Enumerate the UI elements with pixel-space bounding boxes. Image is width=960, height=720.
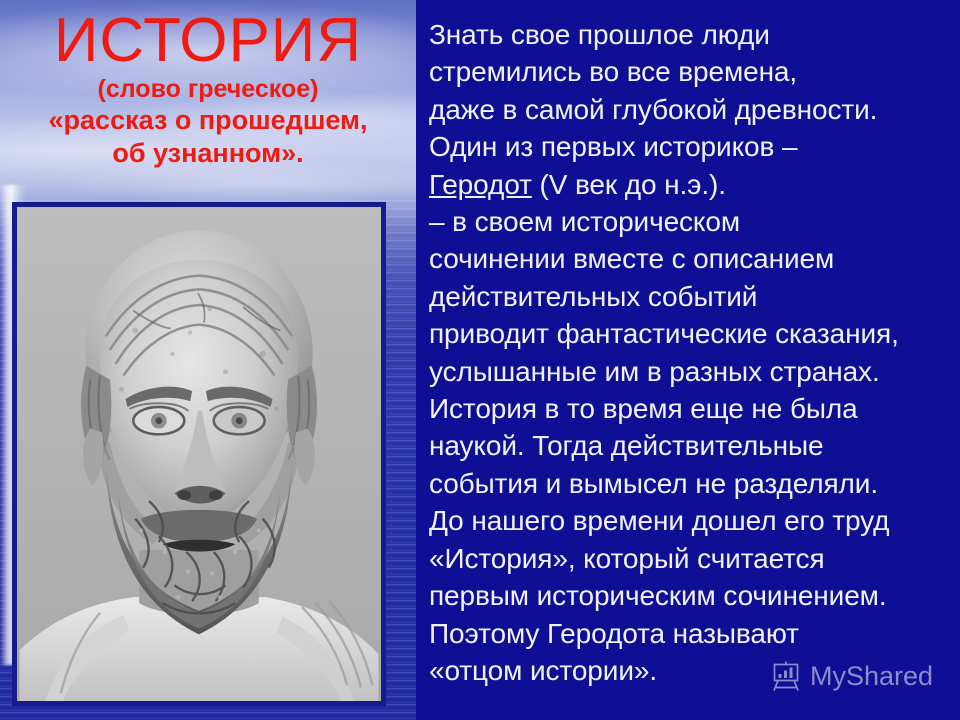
text-panel: Знать свое прошлое люди стремились во вс…	[416, 0, 960, 720]
myshared-watermark: MyShared	[769, 660, 933, 692]
subtitle-line-1: (слово греческое)	[0, 74, 416, 104]
body-line-7: сочинении вместе с описанием	[429, 240, 960, 277]
body-line-13: события и вымысел не разделяли.	[429, 465, 960, 502]
body-line-14: До нашего времени дошел его труд	[429, 502, 960, 539]
body-line-3: даже в самой глубокой древности.	[429, 91, 960, 128]
herodotus-bust-photo	[12, 202, 386, 706]
body-line-4: Один из первых историков –	[429, 128, 960, 165]
body-line-10: услышанные им в разных странах.	[429, 353, 960, 390]
slide-root: ИСТОРИЯ (слово греческое) «рассказ о про…	[0, 0, 960, 720]
body-line-17: Поэтому Геродота называют	[429, 615, 960, 652]
myshared-label: MyShared	[810, 661, 933, 691]
title-block: ИСТОРИЯ (слово греческое) «рассказ о про…	[0, 8, 416, 170]
body-line-9: приводит фантастические сказания,	[429, 315, 960, 352]
subtitle-line-2: «рассказ о прошедшем,	[0, 104, 416, 137]
body-line-11: История в то время еще не была	[429, 390, 960, 427]
body-text-block: Знать свое прошлое люди стремились во вс…	[429, 16, 960, 689]
body-line-5: Геродот (V век до н.э.).	[429, 166, 960, 203]
body-line-2: стремились во все времена,	[429, 53, 960, 90]
herodotus-link: Геродот	[429, 169, 532, 200]
bust-illustration	[17, 207, 381, 701]
herodotus-century: (V век до н.э.).	[532, 169, 726, 200]
body-line-1: Знать свое прошлое люди	[429, 16, 960, 53]
subtitle-line-3: об узнанном».	[0, 137, 416, 170]
body-line-8: действительных событий	[429, 278, 960, 315]
body-line-16: первым историческим сочинением.	[429, 577, 960, 614]
presentation-chart-easel-icon	[769, 660, 803, 692]
body-line-12: наукой. Тогда действительные	[429, 427, 960, 464]
page-title: ИСТОРИЯ	[0, 8, 416, 74]
body-line-15: «История», который считается	[429, 540, 960, 577]
body-line-6: – в своем историческом	[429, 203, 960, 240]
